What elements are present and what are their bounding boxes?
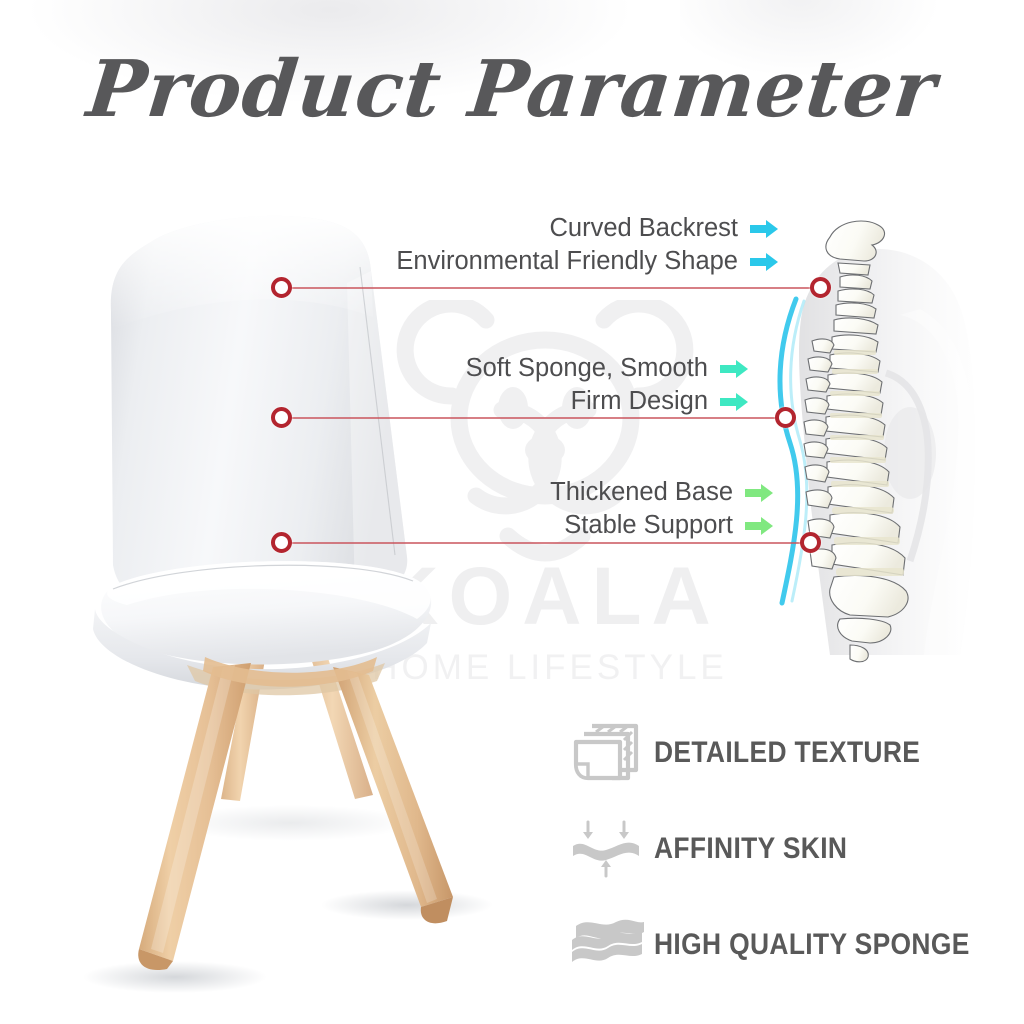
callout-sponge: Soft Sponge, Smooth Firm Design [300, 352, 750, 418]
marker-dot-sponge-right[interactable] [775, 407, 796, 428]
callout-base-row-1: Thickened Base [330, 476, 775, 509]
feature-label-skin: AFFINITY SKIN [654, 832, 847, 866]
arrow-right-icon [743, 483, 775, 503]
page-title: Product Parameter [0, 44, 1024, 135]
product-chair-illustration [55, 205, 495, 1005]
arrow-right-icon [718, 392, 750, 412]
feature-item-skin: AFFINITY SKIN [558, 808, 988, 890]
callout-sponge-line-1: Soft Sponge, Smooth [466, 352, 708, 385]
arrow-right-icon [718, 359, 750, 379]
feature-item-sponge: HIGH QUALITY SPONGE [558, 904, 988, 986]
callout-sponge-row-1: Soft Sponge, Smooth [300, 352, 750, 385]
stacked-fabric-swatches-icon [558, 717, 654, 789]
arrow-right-icon [748, 252, 780, 272]
callout-sponge-row-2: Firm Design [300, 385, 750, 418]
feature-label-sponge: HIGH QUALITY SPONGE [654, 928, 970, 962]
marker-dot-sponge-left[interactable] [271, 407, 292, 428]
spine-anatomy-illustration [760, 195, 1024, 665]
marker-dot-base-left[interactable] [271, 532, 292, 553]
callout-base-row-2: Stable Support [330, 509, 775, 542]
callout-backrest-row-1: Curved Backrest [300, 212, 780, 245]
callout-backrest: Curved Backrest Environmental Friendly S… [300, 212, 780, 278]
marker-dot-backrest-left[interactable] [271, 277, 292, 298]
infographic-canvas: KOALA HOME LIFESTYLE [0, 0, 1024, 1024]
stacked-foam-layers-icon [558, 909, 654, 981]
feature-list: DETAILED TEXTURE AFFINITY SKIN [558, 712, 988, 1000]
callout-sponge-line-2: Firm Design [571, 385, 708, 418]
callout-base-line-2: Stable Support [564, 509, 733, 542]
wavy-cushion-pressure-icon [558, 813, 654, 885]
arrow-right-icon [748, 219, 780, 239]
callout-base-line-1: Thickened Base [550, 476, 733, 509]
arrow-right-icon [743, 516, 775, 536]
marker-dot-backrest-right[interactable] [810, 277, 831, 298]
callout-backrest-line-1: Curved Backrest [550, 212, 739, 245]
callout-backrest-line-2: Environmental Friendly Shape [396, 245, 738, 278]
feature-label-texture: DETAILED TEXTURE [654, 736, 920, 770]
callout-base: Thickened Base Stable Support [330, 476, 775, 542]
marker-dot-base-right[interactable] [800, 532, 821, 553]
callout-backrest-row-2: Environmental Friendly Shape [300, 245, 780, 278]
feature-item-texture: DETAILED TEXTURE [558, 712, 988, 794]
